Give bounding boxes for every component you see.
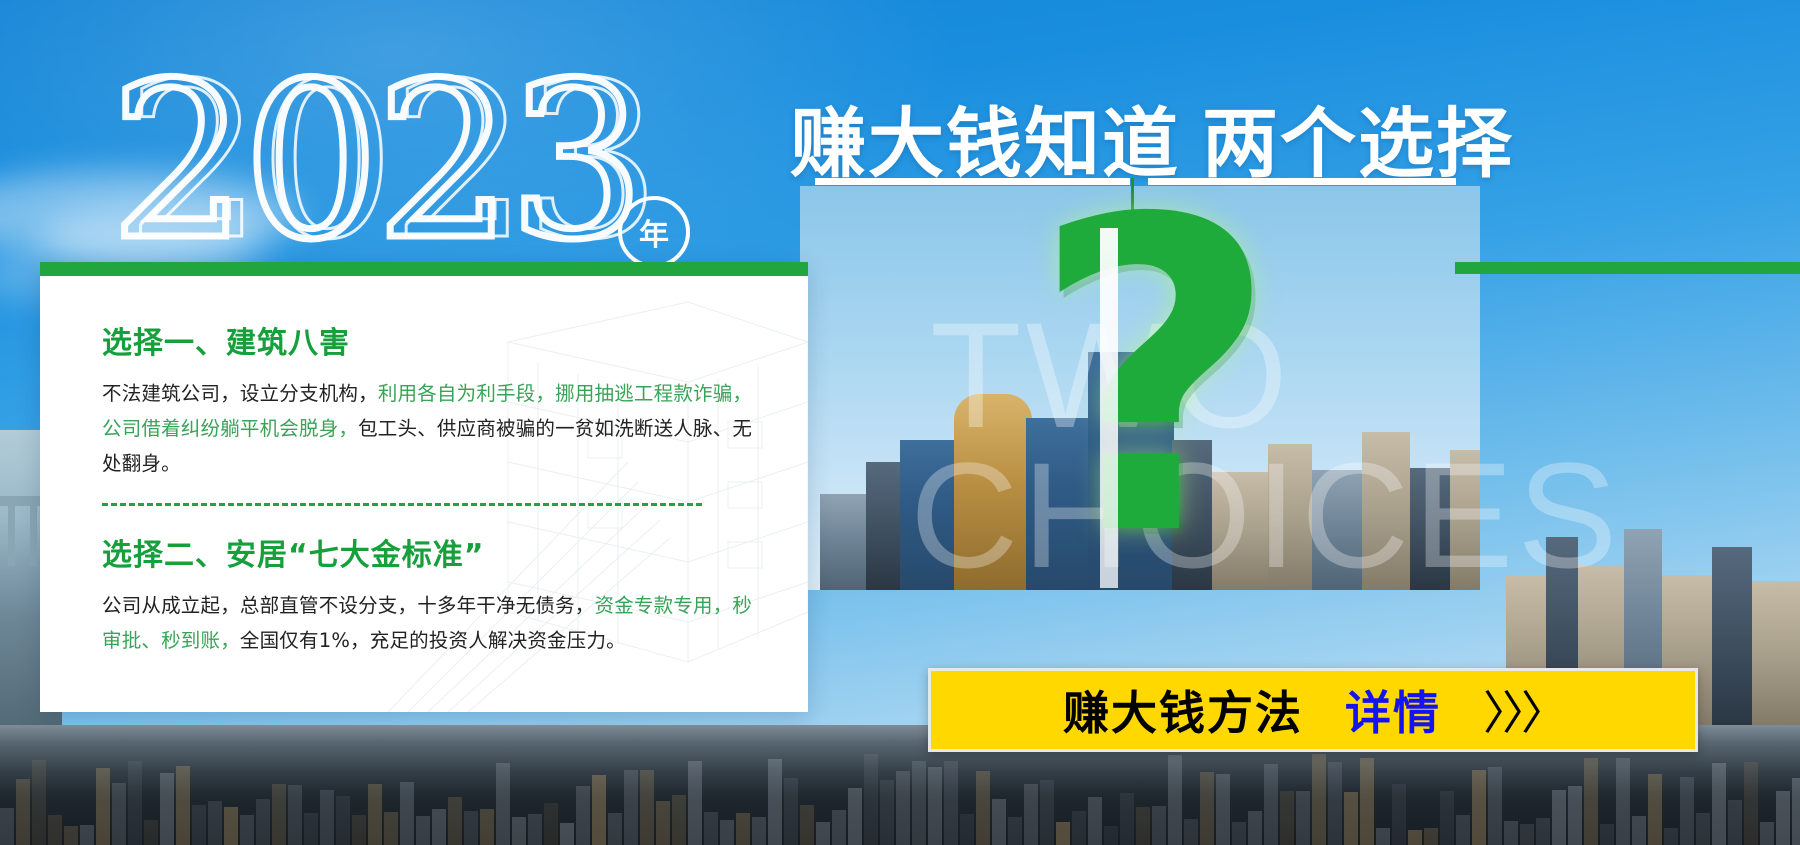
reflection-blip [320,790,334,845]
reflection-blip [64,826,78,845]
reflection-blip [288,785,302,845]
reflection-blip [272,784,286,845]
reflection-blip [1568,786,1582,845]
reflection-blip [240,815,254,845]
building [1712,547,1752,725]
reflection-blip [608,813,622,845]
reflection-blip [1312,754,1326,845]
reflection-blip [736,813,750,845]
reflection-blip [352,815,366,845]
reflection-blip [176,766,190,845]
building [866,462,900,590]
reflection-blip [592,775,606,845]
reflection-blip [1728,800,1742,845]
reflection-blip [1344,792,1358,845]
section-1-text-a: 不法建筑公司，设立分支机构， [102,382,378,405]
cta-banner[interactable]: 赚大钱方法 详情 〉〉〉 [928,668,1698,752]
reflection-blip [1520,824,1534,845]
reflection-blip [80,825,94,845]
question-mark-icon: ? [1030,205,1279,555]
reflection-blip [1792,778,1800,845]
reflection-blip [112,783,126,845]
reflection-blip [1456,815,1470,845]
reflection-blip [128,761,142,845]
section-body-2: 公司从成立起，总部直管不设分支，十多年干净无债务，资金专款专用，秒审批、秒到账，… [102,588,762,658]
reflection-blip [896,771,910,845]
bridge-pier [30,506,37,566]
reflection-blip [1712,763,1726,845]
chevron-right-icon: 〉〉〉 [1483,677,1563,743]
reflection-blip [400,782,414,845]
reflection-blip [1616,758,1630,845]
reflection-blip [1648,774,1662,845]
reflection-blip [704,812,718,845]
reflection-blip [880,780,894,845]
reflection-blip [384,812,398,845]
reflection-blip [1008,817,1022,845]
section-2-text-c: 全国仅有1%，充足的投资人解决资金压力。 [240,629,626,652]
reflection-blip [928,767,942,845]
reflection-blip [1152,806,1166,845]
reflection-blip [1392,784,1406,845]
reflection-blip [1360,758,1374,845]
reflection-blip [1504,821,1518,845]
reflection-blip [1424,828,1438,845]
reflection-blip [1680,777,1694,845]
section-divider [102,503,702,506]
section-title-2: 选择二、安居“七大金标准” [102,530,762,574]
reflection-blip [816,822,830,845]
reflection-blip [16,779,30,845]
reflection-blip [224,807,238,845]
reflection-blip [32,760,46,845]
card-top-accent [40,262,808,276]
reflection-blip [96,768,110,845]
reflection-blip [688,761,702,845]
reflection-blip [640,770,654,845]
reflection-blip [1776,791,1790,845]
reflection-blip [1184,819,1198,845]
reflection-blip [1376,828,1390,845]
reflection-blip [1232,822,1246,845]
reflection-blip [720,820,734,845]
building [1752,581,1800,725]
reflection-blip [528,814,542,845]
reflection-blip [496,763,510,845]
reflection-blip [1040,780,1054,845]
reflection-blip [800,805,814,845]
reflection-blip [256,799,270,845]
bridge-pier [8,506,15,566]
reflection-blip [464,811,478,845]
poster-stage: TWO CHOICES ? 2023 2023 年 赚大钱知道两个选择 [0,0,1800,845]
section-2-text-a: 公司从成立起，总部直管不设分支，十多年干净无债务， [102,594,595,617]
cta-label: 赚大钱方法 [1063,677,1303,743]
reflection-blip [1760,822,1774,845]
reflection-blip [368,784,382,845]
reflection-blip [432,809,446,845]
reflection-blip [192,805,206,845]
reflection-blip [912,761,926,845]
reflection-blip [1136,807,1150,845]
reflection-blip [864,754,878,845]
reflection-blip [992,799,1006,845]
reflection-blip [576,786,590,845]
reflection-blip [1056,822,1070,845]
reflection-blip [1664,828,1678,845]
reflection-blip [1024,784,1038,845]
reflection-blip [144,820,158,845]
reflection-blip [1552,790,1566,845]
reflection-blip [208,801,222,845]
reflection-blip [960,814,974,845]
reflection-blip [1328,762,1342,845]
content-card: 选择一、建筑八害 不法建筑公司，设立分支机构，利用各自为利手段，挪用抽逃工程款诈… [40,262,808,712]
reflection-blip [784,778,798,845]
reflection-blip [1488,767,1502,845]
reflection-blip [1408,830,1422,845]
reflection-blip [768,759,782,845]
reflection-blip [672,795,686,845]
question-mark-divider [1100,228,1118,588]
reflection-blip [624,770,638,845]
reflection-blip [976,771,990,845]
reflection-blip [848,788,862,845]
reflection-blip [656,801,670,845]
reflection-blip [448,797,462,845]
reflection-blip [560,823,574,845]
reflection-blip [336,796,350,845]
reflection-blip [1120,793,1134,845]
building [820,494,866,590]
reflection-blip [1104,826,1118,845]
reflection-blip [832,810,846,845]
reflection-blip [1296,791,1310,845]
reflection-blip [944,761,958,845]
reflection-blip [1744,762,1758,845]
reflection-blip [1088,797,1102,845]
reflection-blip [544,803,558,845]
reflection-blip [480,809,494,845]
reflection-blip [1248,811,1262,845]
reflection-blip [1280,791,1294,845]
reflection-blip [304,813,318,845]
reflection-blip [1200,772,1214,845]
year-unit-badge: 年 [618,196,690,268]
section-title-1: 选择一、建筑八害 [102,318,762,362]
green-accent-bar [1455,262,1800,274]
reflection-blip [1216,774,1230,845]
reflection-blip [1632,816,1646,845]
reflection-blip [1168,755,1182,845]
reflection-blip [160,773,174,845]
reflection-blip [1600,824,1614,845]
section-body-1: 不法建筑公司，设立分支机构，利用各自为利手段，挪用抽逃工程款诈骗，公司借着纠纷躺… [102,376,762,481]
reflection-blip [1264,764,1278,845]
reflection-blip [1472,770,1486,845]
reflection-blip [752,817,766,845]
reflection-blip [1696,813,1710,845]
card-sections: 选择一、建筑八害 不法建筑公司，设立分支机构，利用各自为利手段，挪用抽逃工程款诈… [102,318,762,658]
reflection-blip [1072,811,1086,845]
reflection-blip [416,816,430,845]
reflection-blip [48,815,62,845]
reflection-blip [512,817,526,845]
cta-link-label[interactable]: 详情 [1345,677,1441,743]
reflection-blip [1584,758,1598,845]
reflection-blip [1536,818,1550,845]
reflection-blip [1440,791,1454,845]
reflection-blip [0,808,14,845]
